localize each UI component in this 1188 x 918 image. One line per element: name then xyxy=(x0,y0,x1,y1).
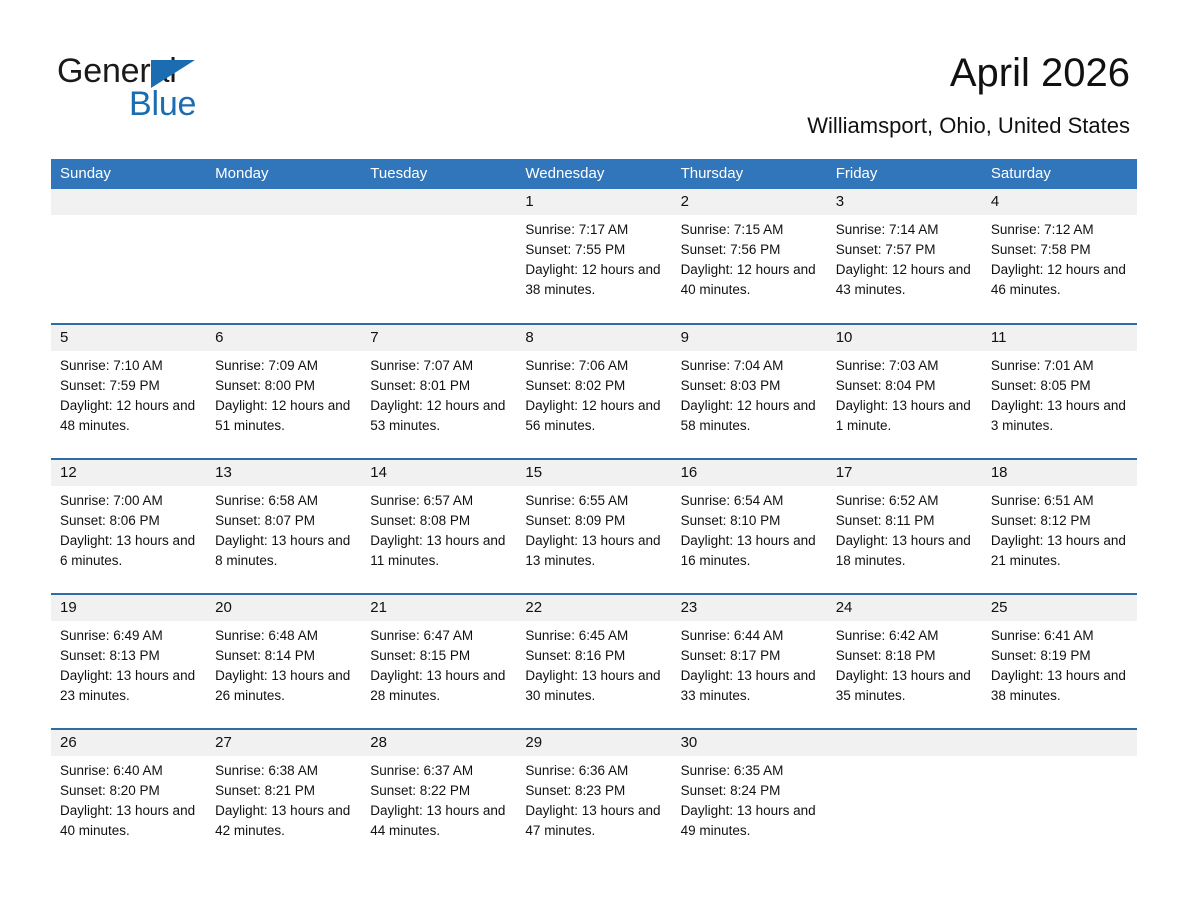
sunrise-text: Sunrise: 7:03 AM xyxy=(836,356,974,376)
daylight-text: Daylight: 13 hours and 33 minutes. xyxy=(681,666,819,706)
day-number: 24 xyxy=(827,595,982,621)
calendar-day-cell[interactable]: 19Sunrise: 6:49 AMSunset: 8:13 PMDayligh… xyxy=(51,594,206,729)
calendar-day-cell[interactable]: 26Sunrise: 6:40 AMSunset: 8:20 PMDayligh… xyxy=(51,729,206,864)
daylight-text: Daylight: 13 hours and 18 minutes. xyxy=(836,531,974,571)
day-cell-inner: 27Sunrise: 6:38 AMSunset: 8:21 PMDayligh… xyxy=(206,730,361,864)
day-number: 22 xyxy=(516,595,671,621)
sunrise-text: Sunrise: 7:10 AM xyxy=(60,356,198,376)
sunrise-text: Sunrise: 7:04 AM xyxy=(681,356,819,376)
sunrise-text: Sunrise: 6:58 AM xyxy=(215,491,353,511)
day-number: 18 xyxy=(982,460,1137,486)
calendar-week-row: 5Sunrise: 7:10 AMSunset: 7:59 PMDaylight… xyxy=(51,324,1137,459)
sunset-text: Sunset: 7:57 PM xyxy=(836,240,974,260)
daylight-text: Daylight: 13 hours and 1 minute. xyxy=(836,396,974,436)
day-cell-inner: 6Sunrise: 7:09 AMSunset: 8:00 PMDaylight… xyxy=(206,325,361,458)
daylight-text: Daylight: 13 hours and 13 minutes. xyxy=(525,531,663,571)
sunrise-text: Sunrise: 7:14 AM xyxy=(836,220,974,240)
day-number: 1 xyxy=(516,189,671,215)
logo-text-blue: Blue xyxy=(129,85,196,123)
sunset-text: Sunset: 8:12 PM xyxy=(991,511,1129,531)
sunrise-text: Sunrise: 7:12 AM xyxy=(991,220,1129,240)
daylight-text: Daylight: 12 hours and 58 minutes. xyxy=(681,396,819,436)
day-details: Sunrise: 6:37 AMSunset: 8:22 PMDaylight:… xyxy=(361,756,516,841)
calendar-week-row: 12Sunrise: 7:00 AMSunset: 8:06 PMDayligh… xyxy=(51,459,1137,594)
day-details: Sunrise: 6:54 AMSunset: 8:10 PMDaylight:… xyxy=(672,486,827,571)
day-number: 15 xyxy=(516,460,671,486)
sunset-text: Sunset: 7:56 PM xyxy=(681,240,819,260)
day-number: 11 xyxy=(982,325,1137,351)
day-number: 30 xyxy=(672,730,827,756)
sunset-text: Sunset: 8:17 PM xyxy=(681,646,819,666)
calendar-day-cell[interactable]: 5Sunrise: 7:10 AMSunset: 7:59 PMDaylight… xyxy=(51,324,206,459)
day-cell-inner: 29Sunrise: 6:36 AMSunset: 8:23 PMDayligh… xyxy=(516,730,671,864)
day-details: Sunrise: 7:12 AMSunset: 7:58 PMDaylight:… xyxy=(982,215,1137,300)
day-cell-inner xyxy=(982,730,1137,864)
day-number: 10 xyxy=(827,325,982,351)
day-cell-inner: 3Sunrise: 7:14 AMSunset: 7:57 PMDaylight… xyxy=(827,189,982,323)
day-details: Sunrise: 6:55 AMSunset: 8:09 PMDaylight:… xyxy=(516,486,671,571)
day-cell-inner: 18Sunrise: 6:51 AMSunset: 8:12 PMDayligh… xyxy=(982,460,1137,593)
day-details: Sunrise: 6:35 AMSunset: 8:24 PMDaylight:… xyxy=(672,756,827,841)
day-cell-inner: 10Sunrise: 7:03 AMSunset: 8:04 PMDayligh… xyxy=(827,325,982,458)
day-details: Sunrise: 6:52 AMSunset: 8:11 PMDaylight:… xyxy=(827,486,982,571)
page-header: General Blue April 2026 Williamsport, Oh… xyxy=(0,0,1188,155)
sunrise-text: Sunrise: 6:40 AM xyxy=(60,761,198,781)
calendar-day-cell[interactable]: 24Sunrise: 6:42 AMSunset: 8:18 PMDayligh… xyxy=(827,594,982,729)
day-number: 13 xyxy=(206,460,361,486)
day-cell-inner: 9Sunrise: 7:04 AMSunset: 8:03 PMDaylight… xyxy=(672,325,827,458)
day-number: 2 xyxy=(672,189,827,215)
calendar-day-cell[interactable]: 18Sunrise: 6:51 AMSunset: 8:12 PMDayligh… xyxy=(982,459,1137,594)
daylight-text: Daylight: 12 hours and 43 minutes. xyxy=(836,260,974,300)
day-cell-inner: 14Sunrise: 6:57 AMSunset: 8:08 PMDayligh… xyxy=(361,460,516,593)
day-cell-inner xyxy=(206,189,361,323)
daylight-text: Daylight: 13 hours and 30 minutes. xyxy=(525,666,663,706)
day-number: 29 xyxy=(516,730,671,756)
day-cell-inner: 23Sunrise: 6:44 AMSunset: 8:17 PMDayligh… xyxy=(672,595,827,728)
day-details: Sunrise: 6:57 AMSunset: 8:08 PMDaylight:… xyxy=(361,486,516,571)
day-details: Sunrise: 6:42 AMSunset: 8:18 PMDaylight:… xyxy=(827,621,982,706)
calendar-day-cell[interactable]: 28Sunrise: 6:37 AMSunset: 8:22 PMDayligh… xyxy=(361,729,516,864)
sunrise-text: Sunrise: 6:42 AM xyxy=(836,626,974,646)
day-cell-inner: 17Sunrise: 6:52 AMSunset: 8:11 PMDayligh… xyxy=(827,460,982,593)
sunset-text: Sunset: 8:20 PM xyxy=(60,781,198,801)
daylight-text: Daylight: 13 hours and 11 minutes. xyxy=(370,531,508,571)
calendar-day-cell[interactable]: 1Sunrise: 7:17 AMSunset: 7:55 PMDaylight… xyxy=(516,189,671,324)
day-number xyxy=(361,189,516,215)
daylight-text: Daylight: 13 hours and 16 minutes. xyxy=(681,531,819,571)
sunset-text: Sunset: 8:13 PM xyxy=(60,646,198,666)
day-cell-inner: 7Sunrise: 7:07 AMSunset: 8:01 PMDaylight… xyxy=(361,325,516,458)
sunrise-text: Sunrise: 7:17 AM xyxy=(525,220,663,240)
daylight-text: Daylight: 12 hours and 40 minutes. xyxy=(681,260,819,300)
day-cell-inner: 30Sunrise: 6:35 AMSunset: 8:24 PMDayligh… xyxy=(672,730,827,864)
day-cell-inner: 1Sunrise: 7:17 AMSunset: 7:55 PMDaylight… xyxy=(516,189,671,323)
daylight-text: Daylight: 13 hours and 26 minutes. xyxy=(215,666,353,706)
calendar-day-cell[interactable]: 3Sunrise: 7:14 AMSunset: 7:57 PMDaylight… xyxy=(827,189,982,324)
month-calendar: Sunday Monday Tuesday Wednesday Thursday… xyxy=(51,159,1137,864)
day-details: Sunrise: 7:04 AMSunset: 8:03 PMDaylight:… xyxy=(672,351,827,436)
day-number: 7 xyxy=(361,325,516,351)
daylight-text: Daylight: 13 hours and 47 minutes. xyxy=(525,801,663,841)
sunrise-text: Sunrise: 7:15 AM xyxy=(681,220,819,240)
day-cell-inner xyxy=(361,189,516,323)
sunrise-text: Sunrise: 6:45 AM xyxy=(525,626,663,646)
sunrise-text: Sunrise: 6:55 AM xyxy=(525,491,663,511)
day-cell-inner: 26Sunrise: 6:40 AMSunset: 8:20 PMDayligh… xyxy=(51,730,206,864)
day-details: Sunrise: 6:36 AMSunset: 8:23 PMDaylight:… xyxy=(516,756,671,841)
sunrise-text: Sunrise: 6:41 AM xyxy=(991,626,1129,646)
day-details: Sunrise: 6:44 AMSunset: 8:17 PMDaylight:… xyxy=(672,621,827,706)
calendar-day-cell[interactable]: 6Sunrise: 7:09 AMSunset: 8:00 PMDaylight… xyxy=(206,324,361,459)
day-cell-inner: 22Sunrise: 6:45 AMSunset: 8:16 PMDayligh… xyxy=(516,595,671,728)
daylight-text: Daylight: 12 hours and 38 minutes. xyxy=(525,260,663,300)
page-title: April 2026 xyxy=(950,50,1130,96)
calendar-day-cell-empty xyxy=(982,729,1137,864)
sunrise-text: Sunrise: 7:00 AM xyxy=(60,491,198,511)
day-number: 27 xyxy=(206,730,361,756)
calendar-day-cell[interactable]: 7Sunrise: 7:07 AMSunset: 8:01 PMDaylight… xyxy=(361,324,516,459)
sunset-text: Sunset: 8:23 PM xyxy=(525,781,663,801)
sunrise-text: Sunrise: 7:07 AM xyxy=(370,356,508,376)
day-cell-inner: 15Sunrise: 6:55 AMSunset: 8:09 PMDayligh… xyxy=(516,460,671,593)
daylight-text: Daylight: 13 hours and 35 minutes. xyxy=(836,666,974,706)
calendar-day-cell[interactable]: 15Sunrise: 6:55 AMSunset: 8:09 PMDayligh… xyxy=(516,459,671,594)
day-cell-inner: 25Sunrise: 6:41 AMSunset: 8:19 PMDayligh… xyxy=(982,595,1137,728)
calendar-week-row: 19Sunrise: 6:49 AMSunset: 8:13 PMDayligh… xyxy=(51,594,1137,729)
sunset-text: Sunset: 8:10 PM xyxy=(681,511,819,531)
day-details: Sunrise: 6:49 AMSunset: 8:13 PMDaylight:… xyxy=(51,621,206,706)
daylight-text: Daylight: 13 hours and 38 minutes. xyxy=(991,666,1129,706)
day-cell-inner: 11Sunrise: 7:01 AMSunset: 8:05 PMDayligh… xyxy=(982,325,1137,458)
calendar-week-row: 26Sunrise: 6:40 AMSunset: 8:20 PMDayligh… xyxy=(51,729,1137,864)
day-cell-inner: 13Sunrise: 6:58 AMSunset: 8:07 PMDayligh… xyxy=(206,460,361,593)
day-details: Sunrise: 7:03 AMSunset: 8:04 PMDaylight:… xyxy=(827,351,982,436)
day-number: 16 xyxy=(672,460,827,486)
daylight-text: Daylight: 13 hours and 8 minutes. xyxy=(215,531,353,571)
day-details: Sunrise: 6:58 AMSunset: 8:07 PMDaylight:… xyxy=(206,486,361,571)
daylight-text: Daylight: 13 hours and 28 minutes. xyxy=(370,666,508,706)
calendar-day-cell[interactable]: 2Sunrise: 7:15 AMSunset: 7:56 PMDaylight… xyxy=(672,189,827,324)
day-cell-inner: 2Sunrise: 7:15 AMSunset: 7:56 PMDaylight… xyxy=(672,189,827,323)
weekday-header-tuesday: Tuesday xyxy=(361,159,516,189)
sunrise-text: Sunrise: 6:36 AM xyxy=(525,761,663,781)
day-number: 20 xyxy=(206,595,361,621)
sunrise-text: Sunrise: 7:06 AM xyxy=(525,356,663,376)
daylight-text: Daylight: 13 hours and 21 minutes. xyxy=(991,531,1129,571)
sunset-text: Sunset: 8:03 PM xyxy=(681,376,819,396)
calendar-day-cell[interactable]: 21Sunrise: 6:47 AMSunset: 8:15 PMDayligh… xyxy=(361,594,516,729)
day-details: Sunrise: 7:15 AMSunset: 7:56 PMDaylight:… xyxy=(672,215,827,300)
day-number: 26 xyxy=(51,730,206,756)
sunrise-text: Sunrise: 6:37 AM xyxy=(370,761,508,781)
daylight-text: Daylight: 13 hours and 49 minutes. xyxy=(681,801,819,841)
day-details: Sunrise: 6:45 AMSunset: 8:16 PMDaylight:… xyxy=(516,621,671,706)
day-details: Sunrise: 7:01 AMSunset: 8:05 PMDaylight:… xyxy=(982,351,1137,436)
calendar-body: 1Sunrise: 7:17 AMSunset: 7:55 PMDaylight… xyxy=(51,189,1137,864)
day-cell-inner: 19Sunrise: 6:49 AMSunset: 8:13 PMDayligh… xyxy=(51,595,206,728)
sunset-text: Sunset: 8:09 PM xyxy=(525,511,663,531)
sunrise-text: Sunrise: 7:09 AM xyxy=(215,356,353,376)
day-details: Sunrise: 7:07 AMSunset: 8:01 PMDaylight:… xyxy=(361,351,516,436)
calendar-day-cell[interactable]: 20Sunrise: 6:48 AMSunset: 8:14 PMDayligh… xyxy=(206,594,361,729)
sunrise-text: Sunrise: 6:35 AM xyxy=(681,761,819,781)
daylight-text: Daylight: 12 hours and 48 minutes. xyxy=(60,396,198,436)
day-details: Sunrise: 7:06 AMSunset: 8:02 PMDaylight:… xyxy=(516,351,671,436)
calendar-week-row: 1Sunrise: 7:17 AMSunset: 7:55 PMDaylight… xyxy=(51,189,1137,324)
sunset-text: Sunset: 8:11 PM xyxy=(836,511,974,531)
sunset-text: Sunset: 7:55 PM xyxy=(525,240,663,260)
calendar-page: General Blue April 2026 Williamsport, Oh… xyxy=(0,0,1188,918)
day-number: 21 xyxy=(361,595,516,621)
day-details: Sunrise: 7:17 AMSunset: 7:55 PMDaylight:… xyxy=(516,215,671,300)
day-number: 23 xyxy=(672,595,827,621)
day-number: 8 xyxy=(516,325,671,351)
daylight-text: Daylight: 13 hours and 6 minutes. xyxy=(60,531,198,571)
sunset-text: Sunset: 7:58 PM xyxy=(991,240,1129,260)
daylight-text: Daylight: 13 hours and 23 minutes. xyxy=(60,666,198,706)
sunset-text: Sunset: 8:21 PM xyxy=(215,781,353,801)
calendar-day-cell[interactable]: 17Sunrise: 6:52 AMSunset: 8:11 PMDayligh… xyxy=(827,459,982,594)
sunrise-text: Sunrise: 6:51 AM xyxy=(991,491,1129,511)
day-number xyxy=(982,730,1137,756)
sunset-text: Sunset: 8:06 PM xyxy=(60,511,198,531)
sunrise-text: Sunrise: 6:57 AM xyxy=(370,491,508,511)
daylight-text: Daylight: 12 hours and 46 minutes. xyxy=(991,260,1129,300)
day-cell-inner: 4Sunrise: 7:12 AMSunset: 7:58 PMDaylight… xyxy=(982,189,1137,323)
day-cell-inner: 12Sunrise: 7:00 AMSunset: 8:06 PMDayligh… xyxy=(51,460,206,593)
day-details: Sunrise: 7:00 AMSunset: 8:06 PMDaylight:… xyxy=(51,486,206,571)
calendar-day-cell[interactable]: 9Sunrise: 7:04 AMSunset: 8:03 PMDaylight… xyxy=(672,324,827,459)
calendar-day-cell[interactable]: 8Sunrise: 7:06 AMSunset: 8:02 PMDaylight… xyxy=(516,324,671,459)
day-number: 6 xyxy=(206,325,361,351)
day-number: 5 xyxy=(51,325,206,351)
day-cell-inner: 28Sunrise: 6:37 AMSunset: 8:22 PMDayligh… xyxy=(361,730,516,864)
sunset-text: Sunset: 8:07 PM xyxy=(215,511,353,531)
calendar-day-cell[interactable]: 11Sunrise: 7:01 AMSunset: 8:05 PMDayligh… xyxy=(982,324,1137,459)
calendar-day-cell[interactable]: 29Sunrise: 6:36 AMSunset: 8:23 PMDayligh… xyxy=(516,729,671,864)
daylight-text: Daylight: 12 hours and 56 minutes. xyxy=(525,396,663,436)
sunset-text: Sunset: 8:22 PM xyxy=(370,781,508,801)
daylight-text: Daylight: 12 hours and 53 minutes. xyxy=(370,396,508,436)
daylight-text: Daylight: 13 hours and 3 minutes. xyxy=(991,396,1129,436)
weekday-header-friday: Friday xyxy=(827,159,982,189)
sunrise-text: Sunrise: 6:54 AM xyxy=(681,491,819,511)
sunset-text: Sunset: 8:19 PM xyxy=(991,646,1129,666)
day-cell-inner: 16Sunrise: 6:54 AMSunset: 8:10 PMDayligh… xyxy=(672,460,827,593)
calendar-day-cell[interactable]: 27Sunrise: 6:38 AMSunset: 8:21 PMDayligh… xyxy=(206,729,361,864)
day-details: Sunrise: 6:40 AMSunset: 8:20 PMDaylight:… xyxy=(51,756,206,841)
calendar-day-cell[interactable]: 23Sunrise: 6:44 AMSunset: 8:17 PMDayligh… xyxy=(672,594,827,729)
calendar-day-cell[interactable]: 30Sunrise: 6:35 AMSunset: 8:24 PMDayligh… xyxy=(672,729,827,864)
day-number xyxy=(827,730,982,756)
calendar-day-cell[interactable]: 16Sunrise: 6:54 AMSunset: 8:10 PMDayligh… xyxy=(672,459,827,594)
weekday-header-wednesday: Wednesday xyxy=(516,159,671,189)
day-number: 14 xyxy=(361,460,516,486)
day-cell-inner: 21Sunrise: 6:47 AMSunset: 8:15 PMDayligh… xyxy=(361,595,516,728)
sunset-text: Sunset: 8:16 PM xyxy=(525,646,663,666)
day-details: Sunrise: 6:47 AMSunset: 8:15 PMDaylight:… xyxy=(361,621,516,706)
calendar-day-cell[interactable]: 12Sunrise: 7:00 AMSunset: 8:06 PMDayligh… xyxy=(51,459,206,594)
calendar-day-cell-empty xyxy=(51,189,206,324)
day-details: Sunrise: 7:10 AMSunset: 7:59 PMDaylight:… xyxy=(51,351,206,436)
day-number xyxy=(51,189,206,215)
daylight-text: Daylight: 12 hours and 51 minutes. xyxy=(215,396,353,436)
page-subtitle-location: Williamsport, Ohio, United States xyxy=(807,113,1130,139)
sunset-text: Sunset: 7:59 PM xyxy=(60,376,198,396)
sunset-text: Sunset: 8:08 PM xyxy=(370,511,508,531)
sunrise-text: Sunrise: 6:48 AM xyxy=(215,626,353,646)
calendar-day-cell[interactable]: 25Sunrise: 6:41 AMSunset: 8:19 PMDayligh… xyxy=(982,594,1137,729)
day-number xyxy=(206,189,361,215)
day-number: 25 xyxy=(982,595,1137,621)
calendar-day-cell[interactable]: 10Sunrise: 7:03 AMSunset: 8:04 PMDayligh… xyxy=(827,324,982,459)
sunset-text: Sunset: 8:24 PM xyxy=(681,781,819,801)
weekday-header-monday: Monday xyxy=(206,159,361,189)
day-cell-inner: 8Sunrise: 7:06 AMSunset: 8:02 PMDaylight… xyxy=(516,325,671,458)
sunrise-text: Sunrise: 7:01 AM xyxy=(991,356,1129,376)
calendar-day-cell-empty xyxy=(827,729,982,864)
sunset-text: Sunset: 8:01 PM xyxy=(370,376,508,396)
sunset-text: Sunset: 8:15 PM xyxy=(370,646,508,666)
day-details: Sunrise: 6:38 AMSunset: 8:21 PMDaylight:… xyxy=(206,756,361,841)
sunset-text: Sunset: 8:04 PM xyxy=(836,376,974,396)
day-cell-inner xyxy=(827,730,982,864)
weekday-header-sunday: Sunday xyxy=(51,159,206,189)
day-number: 3 xyxy=(827,189,982,215)
weekday-header-row: Sunday Monday Tuesday Wednesday Thursday… xyxy=(51,159,1137,189)
day-number: 28 xyxy=(361,730,516,756)
sunrise-text: Sunrise: 6:52 AM xyxy=(836,491,974,511)
day-details: Sunrise: 7:09 AMSunset: 8:00 PMDaylight:… xyxy=(206,351,361,436)
general-blue-logo[interactable]: General Blue xyxy=(57,52,327,124)
sunset-text: Sunset: 8:14 PM xyxy=(215,646,353,666)
logo-triangle-icon xyxy=(151,60,195,88)
daylight-text: Daylight: 13 hours and 42 minutes. xyxy=(215,801,353,841)
sunset-text: Sunset: 8:18 PM xyxy=(836,646,974,666)
day-cell-inner: 20Sunrise: 6:48 AMSunset: 8:14 PMDayligh… xyxy=(206,595,361,728)
daylight-text: Daylight: 13 hours and 44 minutes. xyxy=(370,801,508,841)
day-number: 19 xyxy=(51,595,206,621)
sunset-text: Sunset: 8:05 PM xyxy=(991,376,1129,396)
day-cell-inner xyxy=(51,189,206,323)
day-cell-inner: 5Sunrise: 7:10 AMSunset: 7:59 PMDaylight… xyxy=(51,325,206,458)
daylight-text: Daylight: 13 hours and 40 minutes. xyxy=(60,801,198,841)
calendar-day-cell[interactable]: 13Sunrise: 6:58 AMSunset: 8:07 PMDayligh… xyxy=(206,459,361,594)
calendar-day-cell-empty xyxy=(361,189,516,324)
sunrise-text: Sunrise: 6:49 AM xyxy=(60,626,198,646)
calendar-day-cell-empty xyxy=(206,189,361,324)
day-cell-inner: 24Sunrise: 6:42 AMSunset: 8:18 PMDayligh… xyxy=(827,595,982,728)
sunrise-text: Sunrise: 6:44 AM xyxy=(681,626,819,646)
sunrise-text: Sunrise: 6:47 AM xyxy=(370,626,508,646)
day-number: 12 xyxy=(51,460,206,486)
sunset-text: Sunset: 8:00 PM xyxy=(215,376,353,396)
calendar-day-cell[interactable]: 4Sunrise: 7:12 AMSunset: 7:58 PMDaylight… xyxy=(982,189,1137,324)
day-details: Sunrise: 6:41 AMSunset: 8:19 PMDaylight:… xyxy=(982,621,1137,706)
day-number: 4 xyxy=(982,189,1137,215)
sunrise-text: Sunrise: 6:38 AM xyxy=(215,761,353,781)
calendar-day-cell[interactable]: 22Sunrise: 6:45 AMSunset: 8:16 PMDayligh… xyxy=(516,594,671,729)
weekday-header-thursday: Thursday xyxy=(672,159,827,189)
calendar-day-cell[interactable]: 14Sunrise: 6:57 AMSunset: 8:08 PMDayligh… xyxy=(361,459,516,594)
day-details: Sunrise: 6:48 AMSunset: 8:14 PMDaylight:… xyxy=(206,621,361,706)
sunset-text: Sunset: 8:02 PM xyxy=(525,376,663,396)
day-number: 17 xyxy=(827,460,982,486)
day-details: Sunrise: 6:51 AMSunset: 8:12 PMDaylight:… xyxy=(982,486,1137,571)
day-number: 9 xyxy=(672,325,827,351)
weekday-header-saturday: Saturday xyxy=(982,159,1137,189)
day-details: Sunrise: 7:14 AMSunset: 7:57 PMDaylight:… xyxy=(827,215,982,300)
